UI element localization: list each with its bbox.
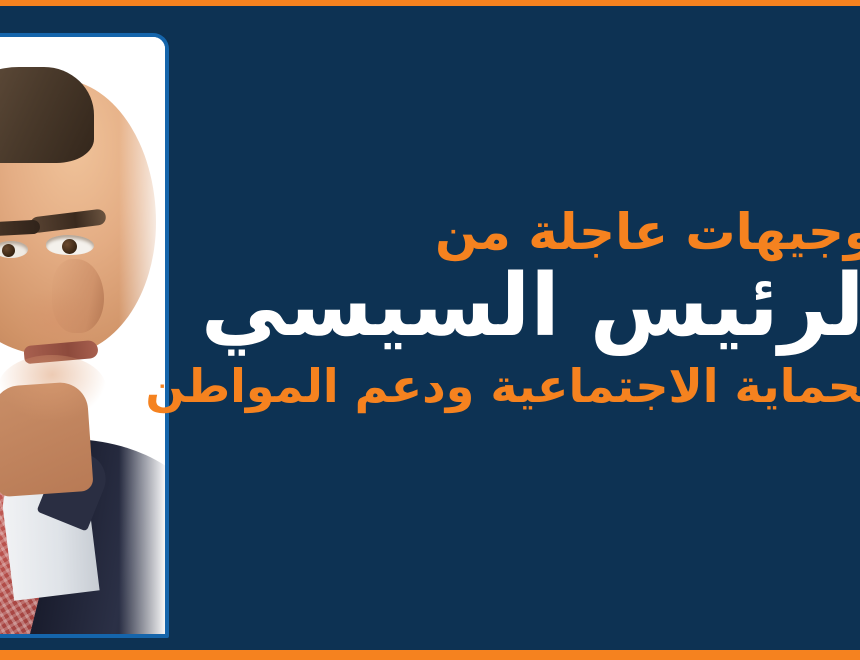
headline-name: الرئيس السيسي [0, 261, 860, 352]
headline-subhead: الحماية الاجتماعية ودعم المواطن [0, 362, 860, 411]
headline-kicker: توجيهات عاجلة من [0, 206, 860, 259]
headline-block: توجيهات عاجلة من الرئيس السيسي الحماية ا… [0, 206, 860, 411]
bottom-accent-bar [0, 650, 860, 660]
portrait-hair [0, 67, 94, 163]
top-accent-bar [0, 0, 860, 6]
banner-canvas: توجيهات عاجلة من الرئيس السيسي الحماية ا… [0, 0, 860, 660]
